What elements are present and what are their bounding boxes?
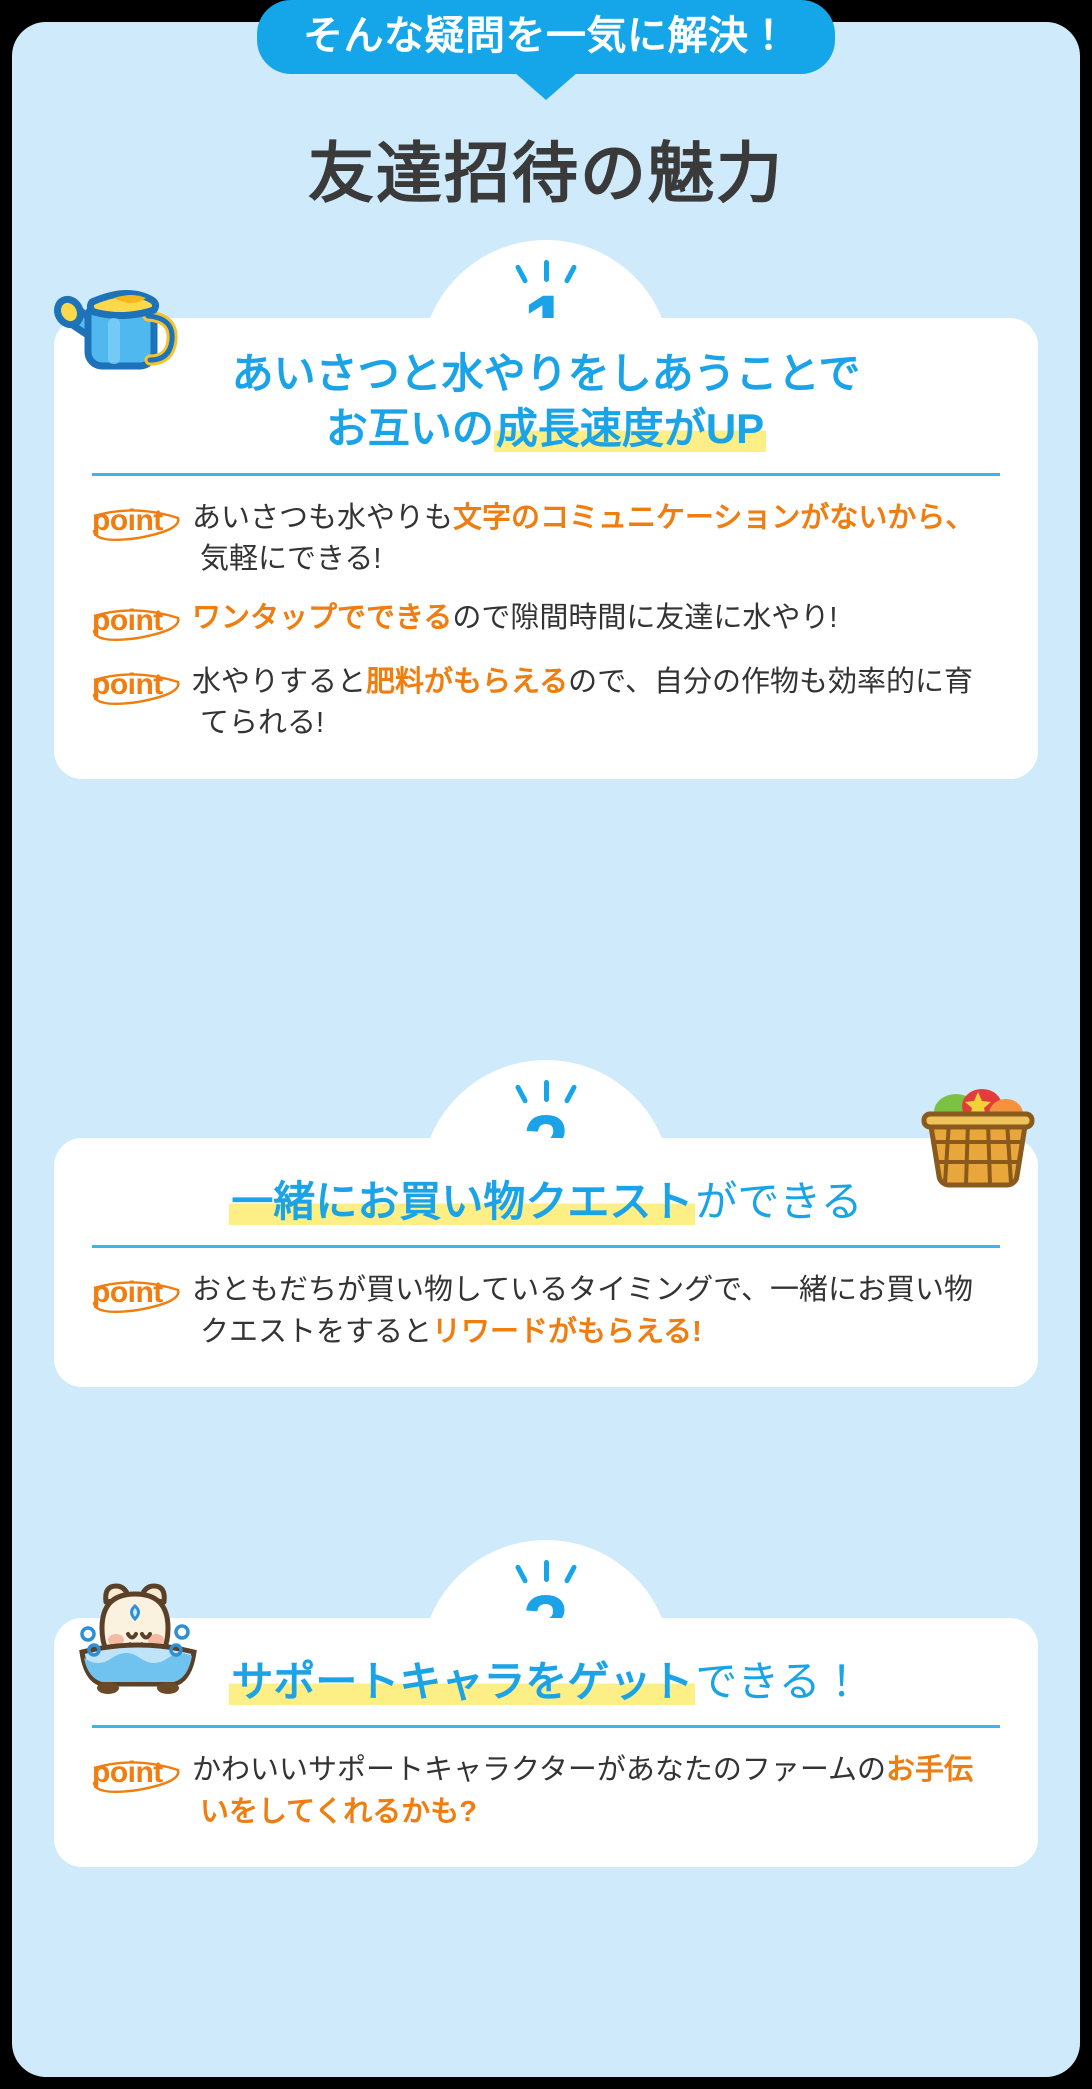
point-label-icon: point bbox=[88, 596, 200, 644]
header-badge-wrapper: そんな疑問を一気に解決！ bbox=[0, 0, 1092, 74]
point-text: 水やりすると肥料がもらえるので、自分の作物も効率的に育てられる! bbox=[200, 660, 998, 744]
sparkle-icon bbox=[501, 258, 591, 284]
point-text: おともだちが買い物しているタイミングで、一緒にお買い物クエストをするとリワードが… bbox=[200, 1268, 998, 1352]
point-item: point あいさつも水やりも文字のコミュニケーションがないから、気軽にできる! bbox=[88, 496, 998, 580]
point-item: point かわいいサポートキャラクターがあなたのファームのお手伝いをしてくれる… bbox=[88, 1748, 998, 1832]
point-label-icon: point bbox=[88, 660, 200, 708]
header-badge-label: そんな疑問を一気に解決！ bbox=[303, 13, 789, 59]
point-label-icon: point bbox=[88, 496, 200, 544]
point-text-emphasis: リワードがもらえる! bbox=[432, 1316, 702, 1348]
svg-text:point: point bbox=[92, 1276, 163, 1309]
svg-text:point: point bbox=[92, 668, 163, 701]
point-text-emphasis: 肥料がもらえる bbox=[366, 666, 568, 698]
point-label-icon: point bbox=[88, 1268, 200, 1316]
point-item: point おともだちが買い物しているタイミングで、一緒にお買い物クエストをする… bbox=[88, 1268, 998, 1352]
section-2-heading-tail: ができる bbox=[695, 1178, 862, 1225]
point-text: ワンタップでできるので隙間時間に友達に水やり! bbox=[200, 596, 998, 639]
point-text-plain: 水やりすると bbox=[192, 666, 366, 698]
point-text-plain: ので隙間時間に友達に水やり! bbox=[452, 602, 837, 634]
section-1-heading-highlight: 成長速度がUP bbox=[494, 405, 766, 452]
svg-text:point: point bbox=[92, 604, 163, 637]
sparkle-icon bbox=[501, 1078, 591, 1104]
section-2-points: point おともだちが買い物しているタイミングで、一緒にお買い物クエストをする… bbox=[54, 1248, 1038, 1386]
section-1-points: point あいさつも水やりも文字のコミュニケーションがないから、気軽にできる!… bbox=[54, 476, 1038, 779]
promo-graphic: そんな疑問を一気に解決！ 友達招待の魅力 1 bbox=[0, 0, 1092, 2089]
section-1-heading: あいさつと水やりをしあうことで お互いの成長速度がUP bbox=[54, 346, 1038, 457]
badge-tail-icon bbox=[514, 72, 578, 100]
point-text-emphasis: ワンタップでできる bbox=[192, 602, 452, 634]
point-item: point ワンタップでできるので隙間時間に友達に水やり! bbox=[88, 596, 998, 644]
point-text: かわいいサポートキャラクターがあなたのファームのお手伝いをしてくれるかも? bbox=[200, 1748, 998, 1832]
section-3-heading-line: サポートキャラをゲットできる！ bbox=[84, 1654, 1008, 1709]
sparkle-icon bbox=[501, 1558, 591, 1584]
section-2-heading-highlight: 一緒にお買い物クエスト bbox=[229, 1178, 695, 1225]
point-text-emphasis: 文字のコミュニケーションがないから、 bbox=[453, 502, 974, 534]
point-item: point 水やりすると肥料がもらえるので、自分の作物も効率的に育てられる! bbox=[88, 660, 998, 744]
section-2-card: 一緒にお買い物クエストができる point おともだちが買い物しているタイミング… bbox=[54, 1138, 1038, 1387]
svg-text:point: point bbox=[92, 1756, 163, 1789]
watering-can-icon bbox=[52, 258, 182, 383]
page-title: 友達招待の魅力 bbox=[0, 120, 1092, 216]
section-3-heading-highlight: サポートキャラをゲット bbox=[229, 1658, 695, 1705]
section-1-heading-line1: あいさつと水やりをしあうことで bbox=[84, 346, 1008, 401]
section-3-points: point かわいいサポートキャラクターがあなたのファームのお手伝いをしてくれる… bbox=[54, 1728, 1038, 1866]
section-1-card: あいさつと水やりをしあうことで お互いの成長速度がUP point あいさつも水… bbox=[54, 318, 1038, 779]
section-2-heading: 一緒にお買い物クエストができる bbox=[54, 1174, 1038, 1229]
section-1-heading-plain: お互いの bbox=[326, 405, 494, 452]
header-badge: そんな疑問を一気に解決！ bbox=[257, 0, 835, 74]
svg-text:point: point bbox=[92, 504, 163, 537]
point-label-icon: point bbox=[88, 1748, 200, 1796]
point-text-plain: あいさつも水やりも bbox=[192, 502, 453, 534]
point-text-plain-2: 気軽にできる! bbox=[200, 543, 381, 575]
section-2-heading-line: 一緒にお買い物クエストができる bbox=[84, 1174, 1008, 1229]
shopping-basket-icon bbox=[916, 1070, 1040, 1193]
point-text-plain: かわいいサポートキャラクターがあなたのファームの bbox=[192, 1754, 886, 1786]
point-text: あいさつも水やりも文字のコミュニケーションがないから、気軽にできる! bbox=[200, 496, 998, 580]
section-1-heading-line2: お互いの成長速度がUP bbox=[84, 401, 1008, 456]
section-3-heading-tail: できる！ bbox=[695, 1658, 862, 1705]
hamster-character-icon bbox=[72, 1566, 204, 1699]
